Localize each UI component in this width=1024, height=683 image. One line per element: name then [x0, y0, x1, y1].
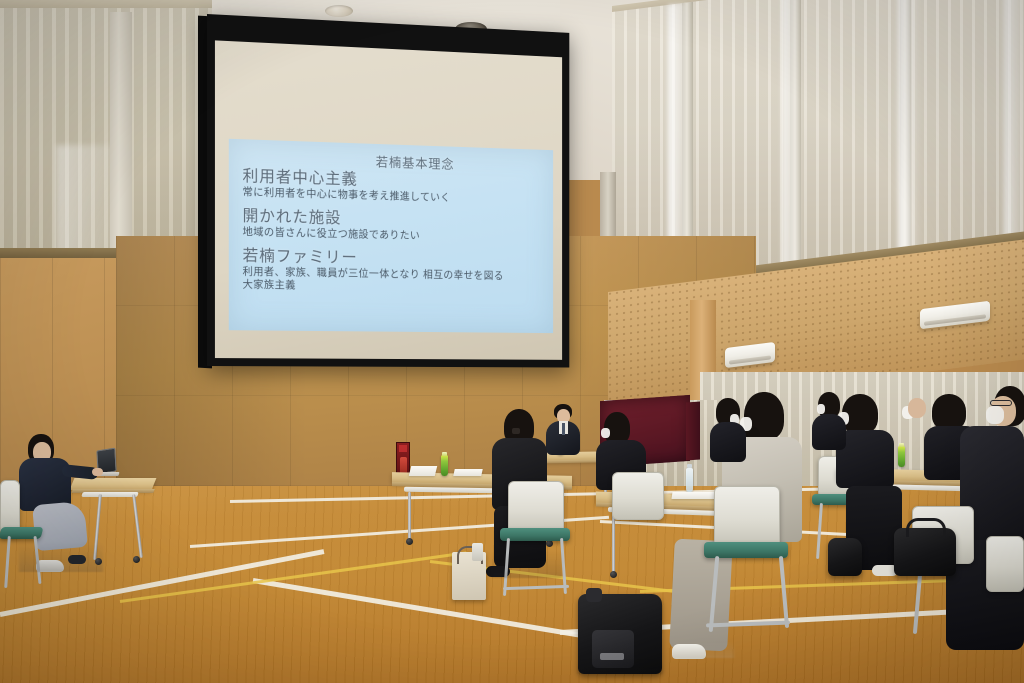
table-leg: [408, 492, 411, 540]
bottle-cap: [442, 452, 447, 456]
backpack-strap: [586, 588, 602, 602]
slide-body: 利用者、家族、職員が三位一体となり 相互の幸せを図る 大家族主義: [243, 266, 545, 296]
black-bag[interactable]: [828, 538, 862, 576]
water-bottle: [686, 468, 693, 492]
person-head: [908, 398, 926, 418]
bag-handle-icon: [906, 518, 946, 537]
chair-backrest[interactable]: [714, 486, 780, 548]
window-light-glow: [1004, 0, 1024, 240]
projection-screen-surface: 若楠基本理念 利用者中心主義 常に利用者を中心に物事を考え推進していく 開かれた…: [215, 40, 562, 359]
tote-bottle: [472, 543, 483, 561]
person-hand: [92, 468, 103, 476]
face-mask: [817, 404, 825, 414]
paper-document: [453, 469, 482, 476]
projected-slide: 若楠基本理念 利用者中心主義 常に利用者を中心に物事を考え推進していく 開かれた…: [229, 139, 553, 333]
floor-reflection: [492, 551, 562, 578]
table-caster: [610, 571, 617, 578]
chair-backrest[interactable]: [508, 481, 564, 535]
slide-block: 若楠ファミリー 利用者、家族、職員が三位一体となり 相互の幸せを図る 大家族主義: [243, 248, 545, 296]
table-caster: [133, 556, 140, 563]
table-leg: [612, 513, 615, 573]
table-caster: [406, 538, 413, 545]
green-tea-bottle: [898, 446, 905, 467]
eyeglasses-icon: [990, 400, 1012, 406]
floor-reflection: [19, 542, 103, 572]
slide-block: 開かれた施設 地域の皆さんに役立つ施設でありたい: [243, 208, 545, 245]
recessed-downlight-icon: [325, 5, 353, 17]
floor-reflection: [578, 659, 662, 674]
bottle-cap: [687, 464, 692, 468]
face-mask: [986, 406, 1004, 424]
projection-screen: 若楠基本理念 利用者中心主義 常に利用者を中心に物事を考え推進していく 開かれた…: [207, 14, 569, 367]
stage-backdrop-panel-edge: [686, 402, 700, 461]
person-torso: [710, 422, 746, 462]
paper-document: [409, 466, 437, 476]
table-apron: [81, 492, 139, 497]
window-mullion: [110, 12, 132, 258]
person-necktie: [562, 423, 565, 435]
face-mask: [601, 428, 610, 438]
green-tea-bottle: [441, 455, 448, 476]
hair-clip-icon: [512, 428, 520, 434]
window-light-glow: [898, 0, 920, 254]
floor-reflection: [672, 641, 734, 658]
person-hair: [932, 394, 966, 430]
fire-extinguisher-label: [399, 445, 407, 452]
chair-backrest[interactable]: [986, 536, 1024, 592]
table-caster: [546, 540, 553, 547]
chair-backrest[interactable]: [612, 472, 664, 520]
window-light-glow: [782, 0, 802, 269]
photo-scene: Lecture in a gymnasium-style multipurpos…: [0, 0, 1024, 683]
bottle-cap: [899, 443, 904, 447]
person-torso: [812, 414, 846, 450]
chair-seat[interactable]: [0, 527, 43, 539]
